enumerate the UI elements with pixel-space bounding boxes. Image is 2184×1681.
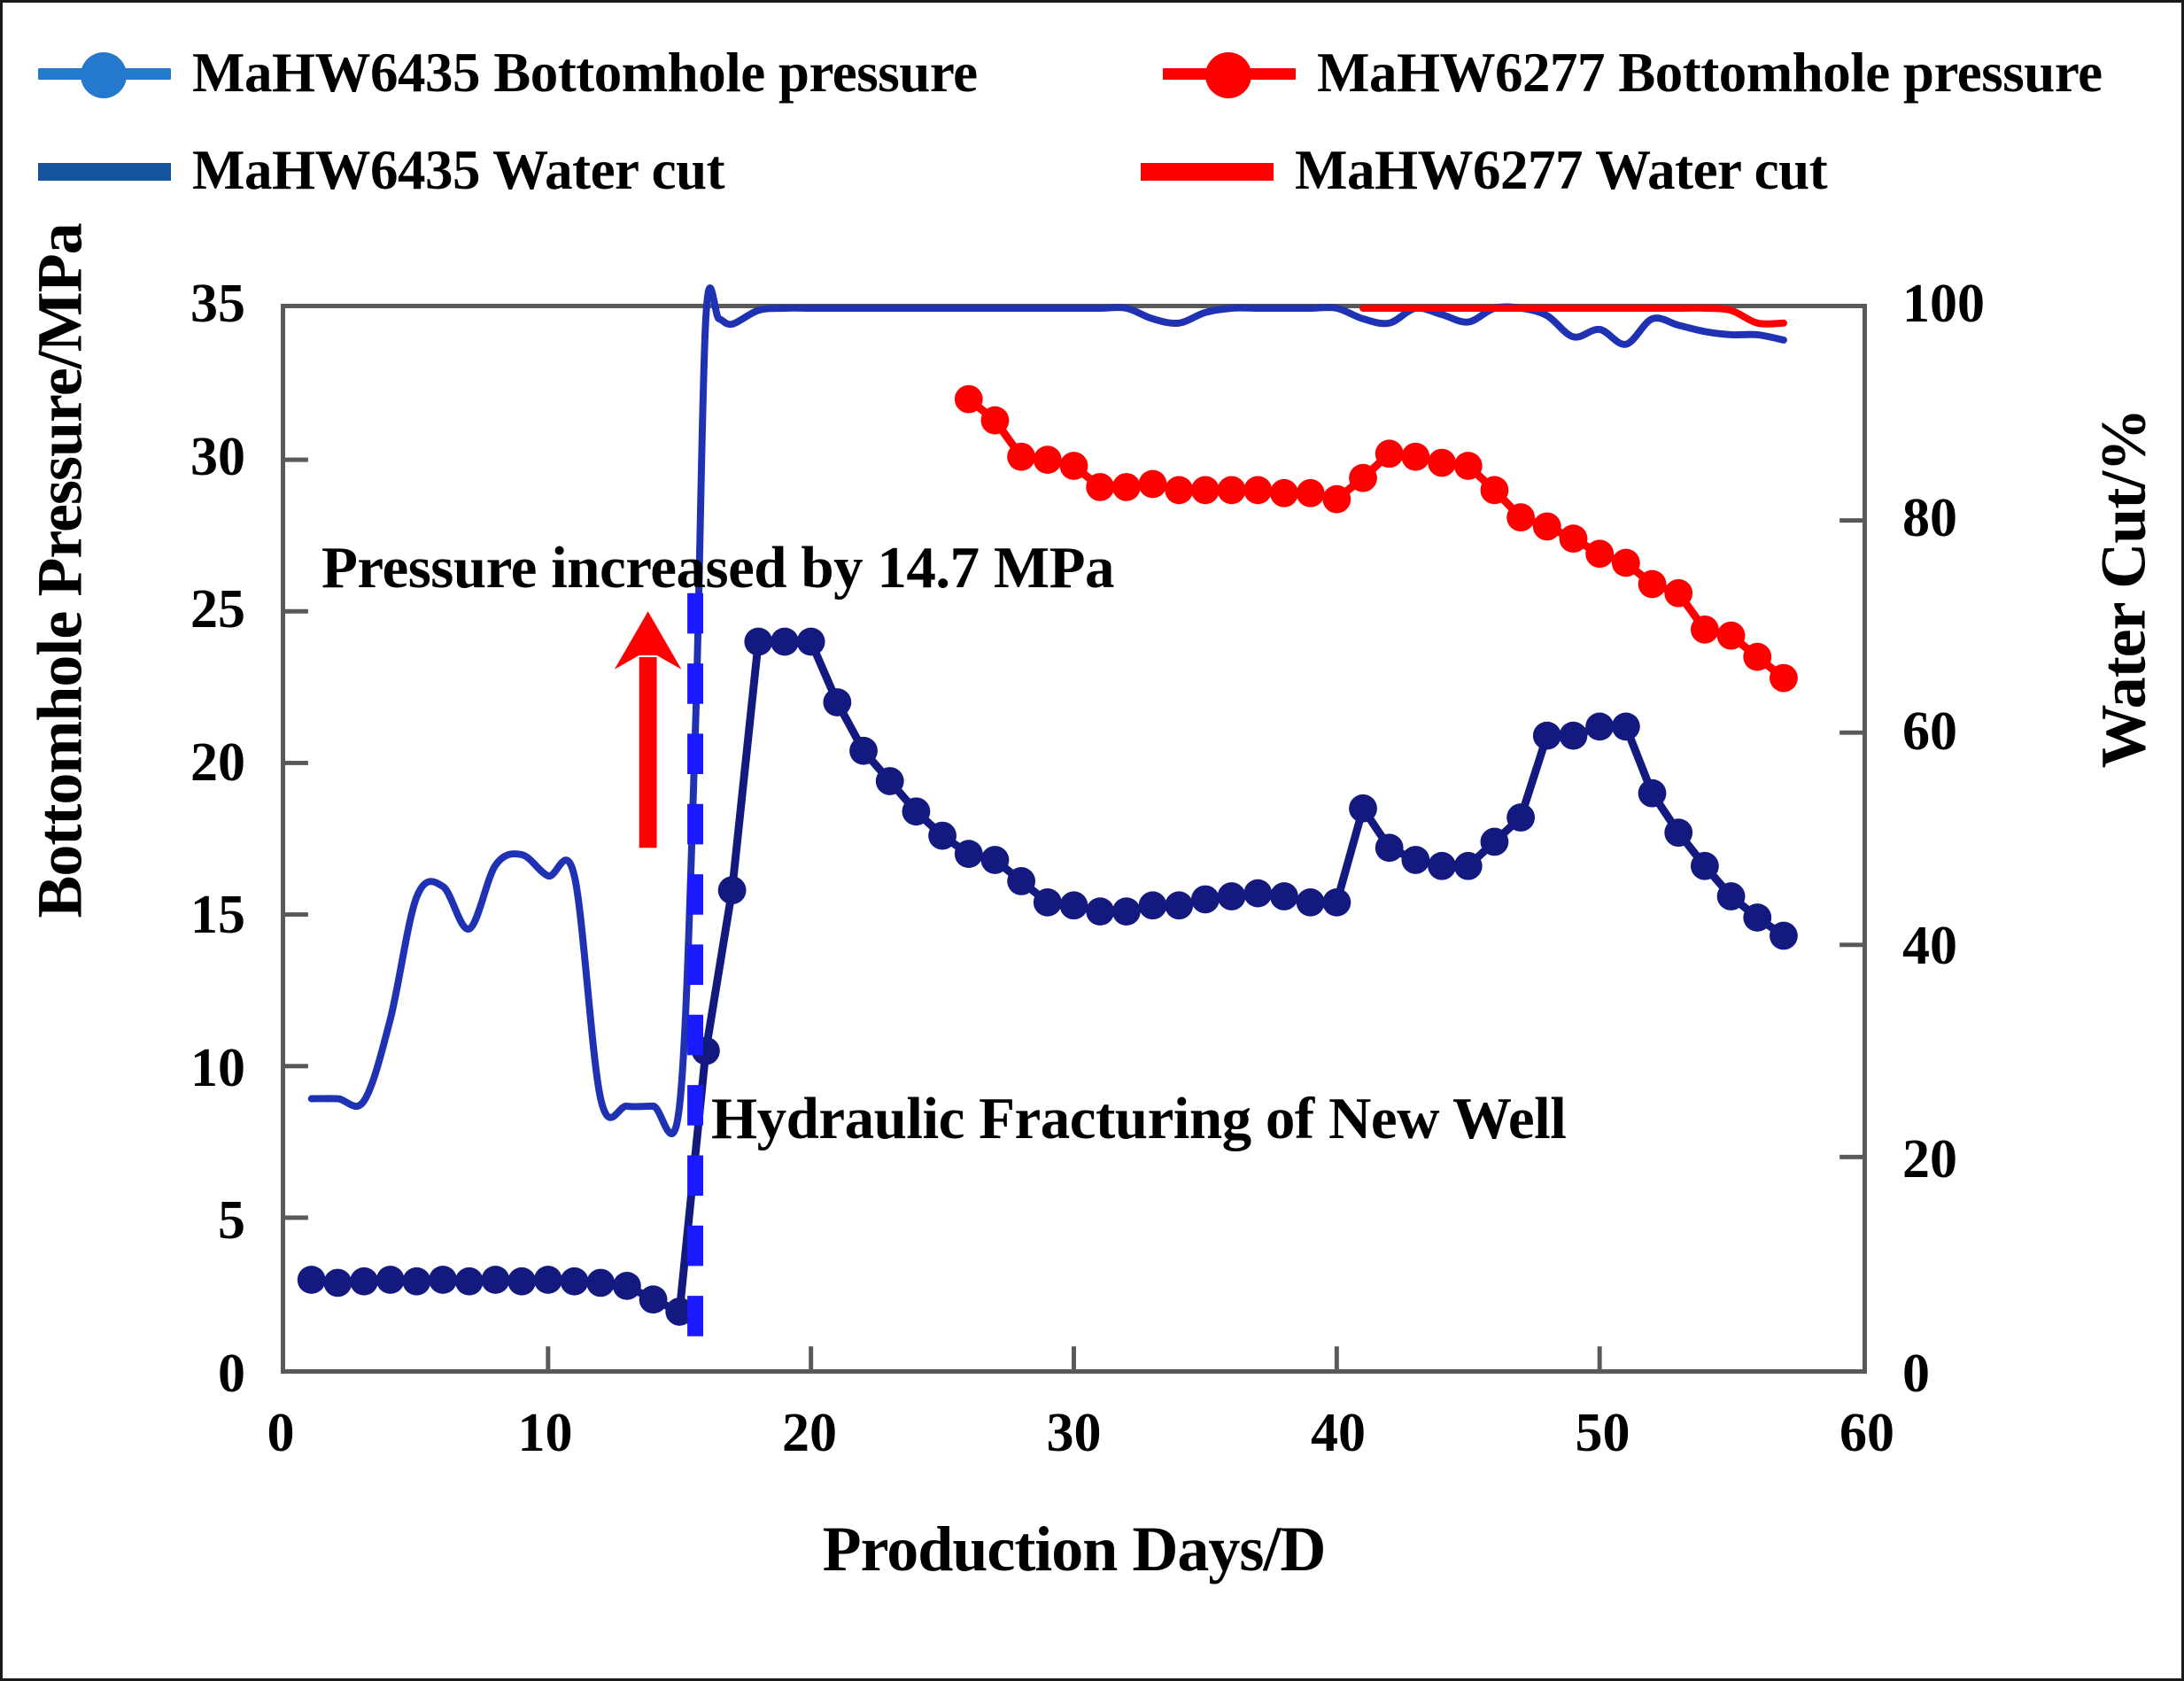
annotation-hydraulic-fracturing: Hydraulic Fracturing of New Well [711, 1085, 1566, 1153]
x-tick-label-40: 40 [1250, 1406, 1427, 1460]
data-point-marker [1638, 779, 1667, 808]
data-point-marker [1349, 794, 1377, 823]
data-point-marker [1560, 524, 1588, 553]
data-point-marker [1638, 570, 1667, 599]
data-point-marker [403, 1267, 431, 1296]
data-point-marker [955, 385, 983, 414]
plot-area [281, 304, 1867, 1374]
data-point-marker [1060, 891, 1088, 919]
data-point-marker [1060, 452, 1088, 480]
data-point-marker [1664, 579, 1692, 608]
legend-item-mahw6277-bottomhole-pressure[interactable]: MaHW6277 Bottomhole pressure [1163, 33, 2103, 112]
data-point-marker [1585, 539, 1614, 568]
data-point-marker [981, 846, 1010, 874]
data-point-marker [1349, 464, 1377, 492]
data-point-marker [586, 1269, 615, 1298]
chart-figure: MaHW6435 Bottomhole pressure MaHW6277 Bo… [0, 0, 2184, 1681]
data-point-marker [1585, 712, 1614, 740]
legend-label-1: MaHW6277 Bottomhole pressure [1317, 41, 2103, 105]
y-tick-label-left-0: 0 [104, 1346, 245, 1401]
data-point-marker [1664, 818, 1692, 847]
data-point-marker [1506, 503, 1535, 531]
data-point-marker [718, 876, 747, 904]
data-point-marker [928, 822, 956, 850]
data-point-marker [376, 1266, 405, 1294]
line-swatch-icon [1141, 163, 1274, 181]
y-tick-label-right-100: 100 [1902, 276, 2062, 331]
legend-label-3: MaHW6277 Water cut [1295, 138, 1827, 203]
data-point-marker [1139, 891, 1167, 919]
legend-label-0: MaHW6435 Bottomhole pressure [192, 41, 978, 105]
x-tick-label-60: 60 [1778, 1406, 1956, 1460]
data-point-marker [1297, 479, 1325, 507]
data-point-marker [1691, 852, 1719, 880]
legend-item-mahw6435-water-cut[interactable]: MaHW6435 Water cut [38, 130, 724, 210]
x-tick-label-50: 50 [1514, 1406, 1692, 1460]
data-point-marker [482, 1266, 510, 1294]
data-point-marker [350, 1267, 378, 1296]
data-point-marker [849, 737, 878, 765]
data-point-marker [1481, 476, 1509, 505]
annotation-shapes [615, 593, 695, 1339]
data-point-marker [1717, 622, 1746, 650]
y-tick-label-left-10: 10 [104, 1041, 245, 1096]
x-tick-label-30: 30 [986, 1406, 1163, 1460]
y-axis-left-title: Bottomhole Pressure/MPa [24, 173, 97, 970]
y-axis-right-title: Water Cut/% [2087, 226, 2161, 952]
y-tick-label-right-80: 80 [1902, 491, 2062, 546]
data-point-marker [1034, 888, 1062, 917]
data-point-marker [1717, 882, 1746, 910]
data-point-marker [823, 688, 851, 717]
data-point-marker [1165, 476, 1193, 505]
data-point-marker [1612, 712, 1640, 740]
y-tick-label-left-25: 25 [104, 582, 245, 637]
data-point-marker [797, 628, 825, 656]
x-tick-label-10: 10 [457, 1406, 634, 1460]
circle-marker-icon [1205, 52, 1251, 98]
data-point-marker [955, 840, 983, 868]
y-tick-label-left-5: 5 [104, 1193, 245, 1248]
data-point-marker [1454, 452, 1483, 480]
data-point-marker [744, 628, 772, 656]
data-point-marker [1086, 897, 1114, 926]
series-line-3 [1363, 308, 1784, 324]
data-point-marker [1112, 897, 1141, 926]
legend-item-mahw6435-bottomhole-pressure[interactable]: MaHW6435 Bottomhole pressure [38, 33, 978, 112]
data-point-marker [1481, 828, 1509, 856]
data-point-marker [1243, 879, 1272, 908]
data-point-marker [1218, 882, 1246, 910]
data-point-marker [1191, 886, 1220, 914]
data-point-marker [534, 1266, 562, 1294]
data-point-marker [771, 628, 799, 656]
y-tick-label-left-20: 20 [104, 735, 245, 790]
legend-label-2: MaHW6435 Water cut [192, 138, 724, 203]
data-point-marker [1270, 882, 1298, 910]
chart-legend: MaHW6435 Bottomhole pressure MaHW6277 Bo… [29, 22, 2146, 226]
data-point-marker [1743, 903, 1771, 932]
data-point-marker [507, 1267, 536, 1296]
data-point-marker [1401, 443, 1429, 471]
data-point-marker [429, 1266, 457, 1294]
data-point-marker [1322, 888, 1351, 917]
data-point-marker [1007, 443, 1035, 471]
data-point-marker [876, 767, 904, 795]
data-point-marker [981, 407, 1010, 435]
y-tick-label-right-0: 0 [1902, 1346, 2062, 1401]
data-point-marker [1243, 476, 1272, 505]
data-point-marker [1112, 473, 1141, 501]
data-point-marker [455, 1267, 484, 1296]
x-tick-label-0: 0 [192, 1406, 369, 1460]
data-point-marker [1691, 616, 1719, 644]
y-tick-label-left-35: 35 [104, 276, 245, 331]
data-point-marker [1770, 922, 1798, 950]
series-line-2 [312, 288, 1784, 1134]
data-point-marker [1375, 833, 1404, 862]
data-point-marker [902, 797, 930, 825]
y-tick-label-right-60: 60 [1902, 704, 2062, 759]
water-cut-lines [312, 288, 1784, 1134]
circle-marker-icon [81, 52, 127, 98]
data-point-marker [1165, 891, 1193, 919]
data-point-marker [1322, 485, 1351, 514]
data-point-marker [1375, 439, 1404, 468]
data-point-marker [1770, 664, 1798, 693]
data-point-marker [561, 1267, 589, 1296]
x-tick-label-20: 20 [721, 1406, 898, 1460]
data-point-marker [298, 1266, 326, 1294]
data-point-marker [1506, 803, 1535, 832]
legend-key-blue-marker [38, 46, 171, 99]
data-point-marker [613, 1272, 641, 1300]
data-point-marker [1428, 449, 1456, 477]
data-point-marker [1401, 846, 1429, 874]
annotation-pressure-increase: Pressure increased by 14.7 MPa [321, 534, 1114, 602]
data-point-marker [1086, 473, 1114, 501]
data-point-marker [1139, 470, 1167, 499]
data-point-marker [1270, 479, 1298, 507]
data-point-marker [1218, 476, 1246, 505]
x-axis-title: Production Days/D [281, 1513, 1867, 1586]
data-point-marker [1743, 643, 1771, 671]
y-tick-label-right-20: 20 [1902, 1132, 2062, 1187]
legend-item-mahw6277-water-cut[interactable]: MaHW6277 Water cut [1141, 130, 1827, 210]
data-point-marker [639, 1285, 668, 1313]
legend-key-red-marker [1163, 46, 1296, 99]
data-point-marker [1428, 852, 1456, 880]
data-point-marker [1034, 445, 1062, 474]
data-point-marker [1007, 867, 1035, 895]
data-point-marker [1454, 852, 1483, 880]
data-point-marker [1191, 476, 1220, 505]
data-point-marker [1612, 549, 1640, 577]
data-point-marker [1533, 722, 1561, 750]
legend-key-red-swatch [1141, 143, 1274, 197]
plot-svg [285, 308, 1863, 1369]
data-point-marker [323, 1269, 352, 1298]
y-tick-label-left-30: 30 [104, 430, 245, 484]
data-point-marker [1533, 513, 1561, 541]
y-tick-label-right-40: 40 [1902, 918, 2062, 973]
data-point-marker [1560, 722, 1588, 750]
data-point-marker [1297, 888, 1325, 917]
y-tick-label-left-15: 15 [104, 887, 245, 942]
